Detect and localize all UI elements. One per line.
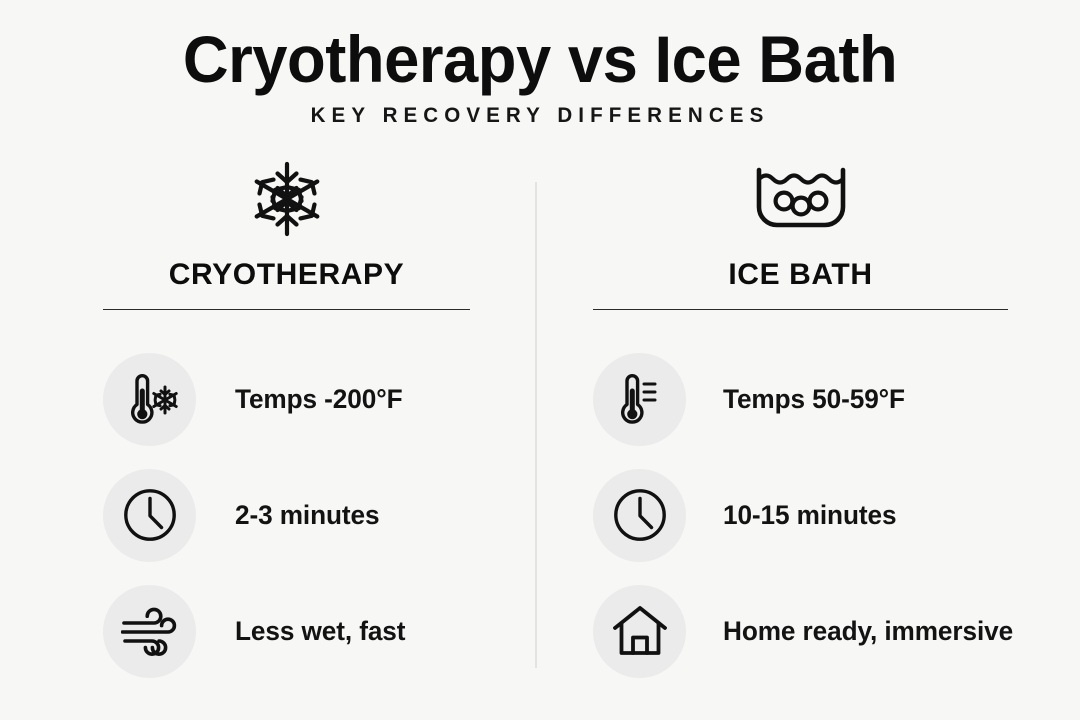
feature-list-cryotherapy: Temps -200°F 2-3 minutes	[103, 341, 470, 689]
feature-row: Temps -200°F	[103, 341, 470, 457]
feature-text: Temps 50-59°F	[723, 384, 905, 415]
header: Cryotherapy vs Ice Bath KEY RECOVERY DIF…	[0, 0, 1080, 128]
column-ice-bath: ICE BATH Temps 50-59°F	[540, 160, 1080, 689]
feature-text: Temps -200°F	[235, 384, 402, 415]
column-heading-cryotherapy: CRYOTHERAPY	[103, 258, 470, 292]
ice-tub-icon	[593, 160, 1008, 238]
infographic-canvas: Cryotherapy vs Ice Bath KEY RECOVERY DIF…	[0, 0, 1080, 720]
thermometer-snowflake-icon	[103, 353, 196, 446]
feature-row: 2-3 minutes	[103, 457, 470, 573]
home-icon	[593, 585, 686, 678]
feature-row: 10-15 minutes	[593, 457, 1008, 573]
feature-text: Home ready, immersive	[723, 616, 1013, 647]
column-heading-ice-bath: ICE BATH	[593, 258, 1008, 292]
column-rule-cryotherapy	[103, 309, 470, 310]
snowflake-icon	[103, 160, 470, 238]
page-subtitle: KEY RECOVERY DIFFERENCES	[11, 104, 1069, 128]
column-rule-ice-bath	[593, 309, 1008, 310]
comparison-columns: CRYOTHERAPY	[0, 160, 1080, 689]
clock-icon	[593, 469, 686, 562]
page-title: Cryotherapy vs Ice Bath	[22, 26, 1059, 92]
feature-text: 2-3 minutes	[235, 500, 379, 531]
feature-row: Home ready, immersive	[593, 573, 1008, 689]
feature-text: Less wet, fast	[235, 616, 405, 647]
wind-icon	[103, 585, 196, 678]
feature-row: Less wet, fast	[103, 573, 470, 689]
column-cryotherapy: CRYOTHERAPY	[0, 160, 540, 689]
thermometer-icon	[593, 353, 686, 446]
feature-row: Temps 50-59°F	[593, 341, 1008, 457]
clock-icon	[103, 469, 196, 562]
feature-text: 10-15 minutes	[723, 500, 896, 531]
feature-list-ice-bath: Temps 50-59°F 10-15 minutes	[593, 341, 1008, 689]
